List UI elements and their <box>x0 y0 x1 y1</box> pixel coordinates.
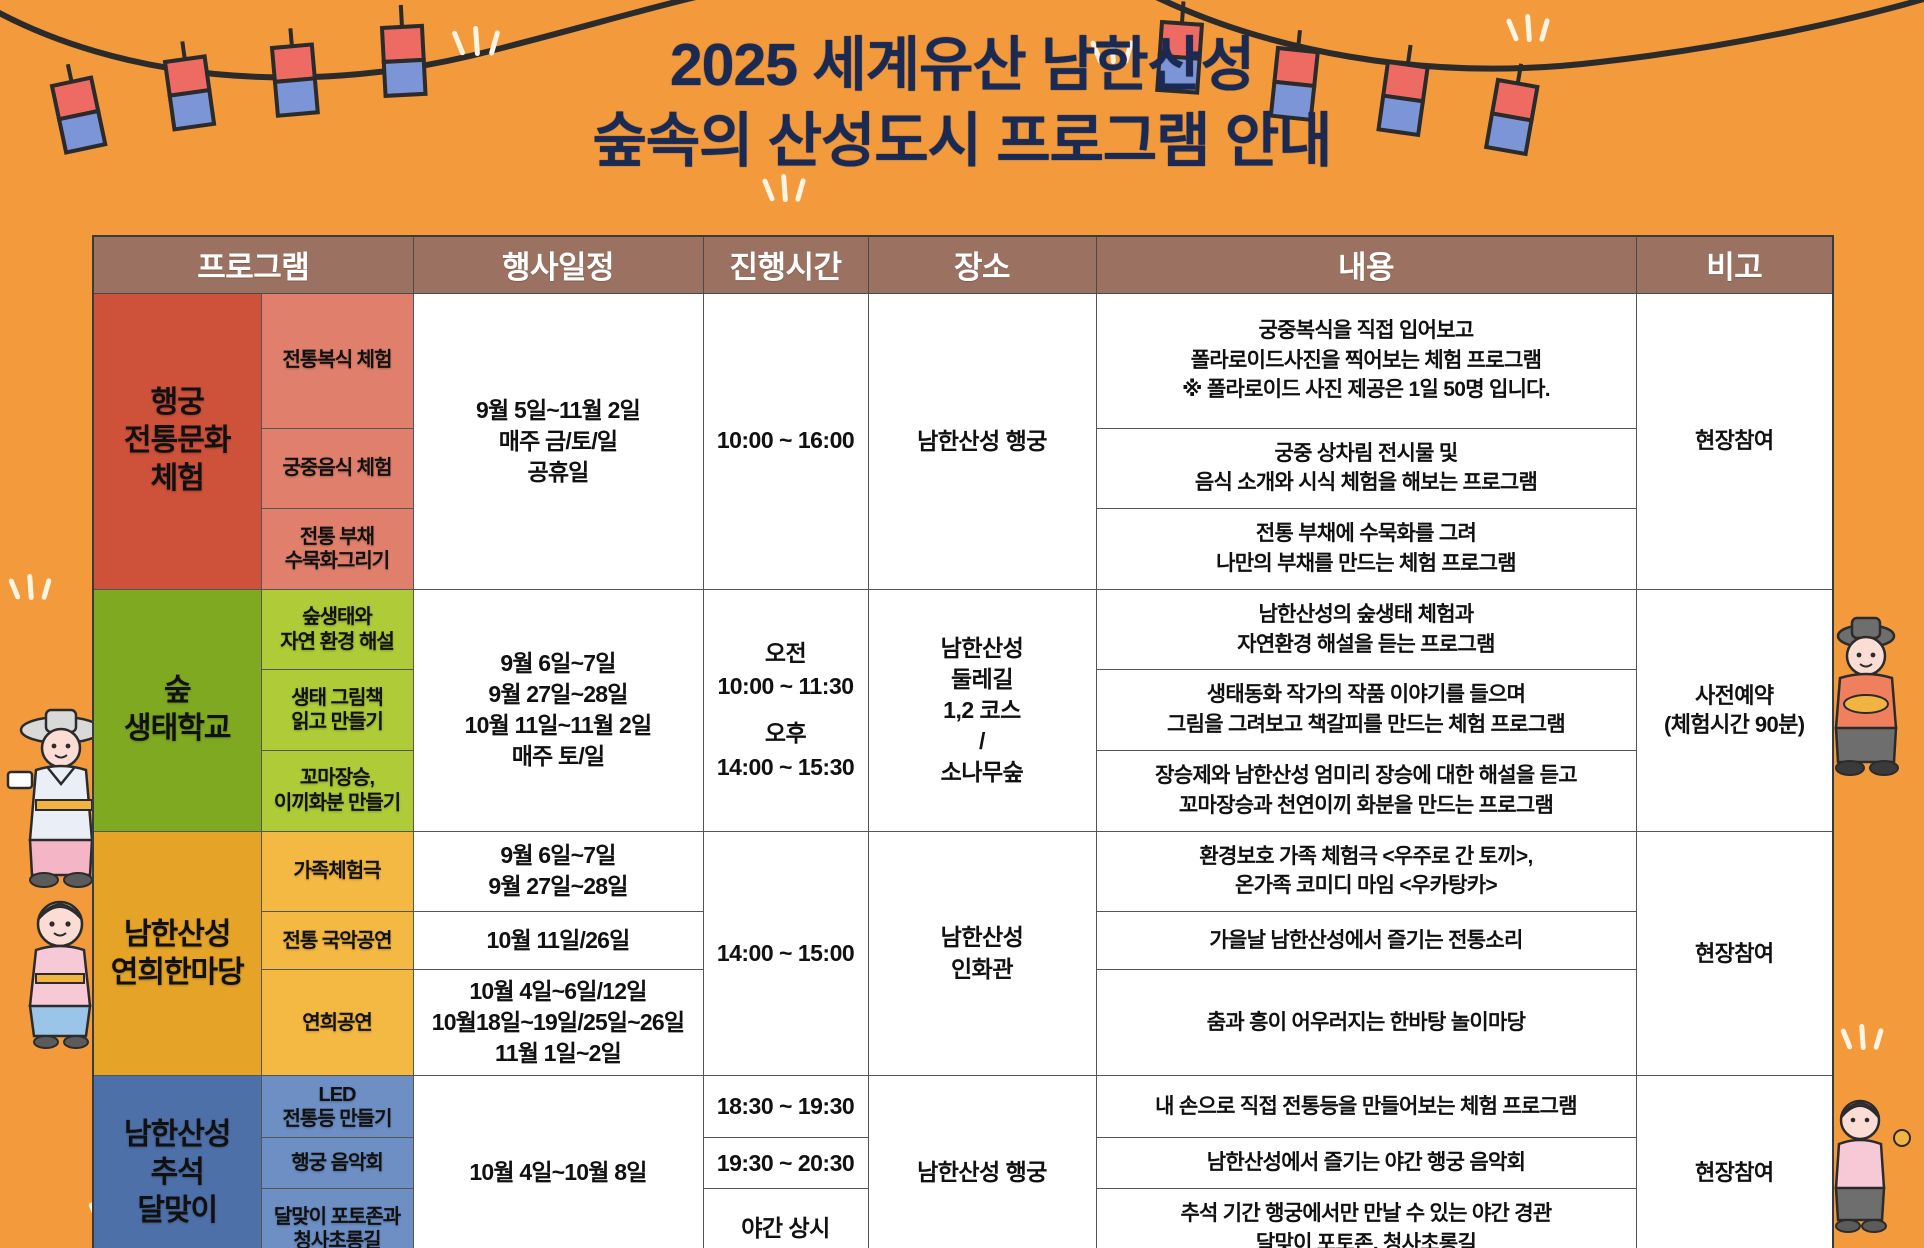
content-line-2: 꼬마장승과 천연이끼 화분을 만드는 프로그램 <box>1107 791 1626 821</box>
sub-line-1: 꼬마장승, <box>264 766 411 790</box>
sub-program-name: LED 전통등 만들기 <box>261 1076 413 1138</box>
remark-line-2: (체험시간 90분) <box>1641 710 1829 740</box>
program-schedule-table-wrap: 프로그램 행사일정 진행시간 장소 내용 비고 행궁 전통문화 체험 전통복식 … <box>92 235 1832 1248</box>
schedule-cell: 9월 6일~7일 9월 27일~28일 10월 11일~11월 2일 매주 토/… <box>413 589 703 831</box>
content-line-1: 전통 부채에 수묵화를 그려 <box>1107 519 1626 549</box>
sub-program-name: 연희공연 <box>261 970 413 1076</box>
group-name-hanggung: 행궁 전통문화 체험 <box>93 293 261 589</box>
sub-program-name: 꼬마장승, 이끼화분 만들기 <box>261 751 413 832</box>
content-cell: 가을날 남한산성에서 즐기는 전통소리 <box>1096 912 1636 970</box>
schedule-cell: 9월 6일~7일 9월 27일~28일 <box>413 831 703 912</box>
sub-program-name: 전통 국악공연 <box>261 912 413 970</box>
content-cell: 궁중 상차림 전시물 및 음식 소개와 시식 체험을 해보는 프로그램 <box>1096 428 1636 509</box>
sub-line-2: 자연 환경 해설 <box>264 630 411 654</box>
time-line-1: 오전 <box>706 637 866 670</box>
schedule-line-2: 10월18일~19일/25일~26일 <box>418 1007 699 1038</box>
content-cell: 남한산성에서 즐기는 야간 행궁 음악회 <box>1096 1138 1636 1189</box>
sub-program-name: 달맞이 포토존과 청사초롱길 <box>261 1189 413 1248</box>
group-line-2: 추석 <box>94 1154 261 1192</box>
header-remark: 비고 <box>1636 236 1833 293</box>
schedule-line-3: 공휴일 <box>418 457 699 488</box>
sparkle-decoration <box>8 572 68 612</box>
content-line-3: ※ 폴라로이드 사진 제공은 1일 50명 입니다. <box>1107 375 1626 405</box>
content-line-1: 장승제와 남한산성 엄미리 장승에 대한 해설을 듣고 <box>1107 761 1626 791</box>
table-row: 행궁 전통문화 체험 전통복식 체험 9월 5일~11월 2일 매주 금/토/일… <box>93 293 1833 428</box>
sub-line-1: 전통 부채 <box>264 525 411 549</box>
time-line-2: 10:00 ~ 11:30 <box>706 670 866 703</box>
place-line-1: 남한산성 <box>873 922 1092 953</box>
time-cell: 19:30 ~ 20:30 <box>703 1138 868 1189</box>
place-cell: 남한산성 인화관 <box>868 831 1096 1076</box>
content-line-2: 음식 소개와 시식 체험을 해보는 프로그램 <box>1107 468 1626 498</box>
place-cell: 남한산성 행궁 <box>868 1076 1096 1248</box>
place-line-2: 인화관 <box>873 954 1092 985</box>
sub-line-2: 청사초롱길 <box>264 1229 411 1248</box>
remark-cell: 사전예약 (체험시간 90분) <box>1636 589 1833 831</box>
schedule-line-1: 9월 5일~11월 2일 <box>418 395 699 426</box>
sub-line-2: 전통등 만들기 <box>264 1107 411 1131</box>
remark-cell: 현장참여 <box>1636 831 1833 1076</box>
sub-program-name: 숲생태와 자연 환경 해설 <box>261 589 413 670</box>
schedule-cell: 10월 4일~6일/12일 10월18일~19일/25일~26일 11월 1일~… <box>413 970 703 1076</box>
group-name-forest-school: 숲 생태학교 <box>93 589 261 831</box>
sub-program-name: 행궁 음악회 <box>261 1138 413 1189</box>
sub-program-name: 전통복식 체험 <box>261 293 413 428</box>
place-cell: 남한산성 둘레길 1,2 코스 / 소나무숲 <box>868 589 1096 831</box>
group-name-yeonhui: 남한산성 연희한마당 <box>93 831 261 1076</box>
header-program: 프로그램 <box>93 236 413 293</box>
remark-line-1: 사전예약 <box>1641 681 1829 711</box>
table-row: 남한산성 추석 달맞이 LED 전통등 만들기 10월 4일~10월 8일 18… <box>93 1076 1833 1138</box>
schedule-line-1: 9월 6일~7일 <box>418 648 699 679</box>
schedule-cell: 10월 11일/26일 <box>413 912 703 970</box>
place-line-2: 둘레길 <box>873 664 1092 695</box>
content-cell: 춤과 흥이 어우러지는 한바탕 놀이마당 <box>1096 970 1636 1076</box>
sub-program-name: 생태 그림책 읽고 만들기 <box>261 670 413 751</box>
content-line-2: 자연환경 해설을 듣는 프로그램 <box>1107 630 1626 660</box>
schedule-line-4: 매주 토/일 <box>418 741 699 772</box>
content-cell: 추석 기간 행궁에서만 만날 수 있는 야간 경관 달맞이 포토존, 청사초롱길 <box>1096 1189 1636 1248</box>
group-line-3: 달맞이 <box>94 1192 261 1230</box>
poster-title: 2025 세계유산 남한산성 숲속의 산성도시 프로그램 안내 <box>0 28 1924 179</box>
sub-line-1: 달맞이 포토존과 <box>264 1205 411 1229</box>
table-header-row: 프로그램 행사일정 진행시간 장소 내용 비고 <box>93 236 1833 293</box>
remark-cell: 현장참여 <box>1636 293 1833 589</box>
time-spacer <box>706 703 866 717</box>
sub-program-name: 가족체험극 <box>261 831 413 912</box>
title-line-2: 숲속의 산성도시 프로그램 안내 <box>0 104 1924 180</box>
time-line-3: 오후 <box>706 717 866 750</box>
header-content: 내용 <box>1096 236 1636 293</box>
header-place: 장소 <box>868 236 1096 293</box>
content-cell: 전통 부채에 수묵화를 그려 나만의 부채를 만드는 체험 프로그램 <box>1096 509 1636 590</box>
content-cell: 남한산성의 숲생태 체험과 자연환경 해설을 듣는 프로그램 <box>1096 589 1636 670</box>
group-line-2: 생태학교 <box>94 710 261 748</box>
time-cell: 10:00 ~ 16:00 <box>703 293 868 589</box>
header-schedule: 행사일정 <box>413 236 703 293</box>
time-cell: 오전 10:00 ~ 11:30 오후 14:00 ~ 15:30 <box>703 589 868 831</box>
group-line-1: 숲 <box>94 672 261 710</box>
group-line-1: 행궁 <box>94 384 261 422</box>
schedule-cell: 9월 5일~11월 2일 매주 금/토/일 공휴일 <box>413 293 703 589</box>
program-schedule-table: 프로그램 행사일정 진행시간 장소 내용 비고 행궁 전통문화 체험 전통복식 … <box>92 235 1834 1248</box>
sub-line-2: 수묵화그리기 <box>264 549 411 573</box>
title-line-1: 2025 세계유산 남한산성 <box>0 28 1924 104</box>
content-line-2: 달맞이 포토존, 청사초롱길 <box>1107 1229 1626 1248</box>
content-cell: 장승제와 남한산성 엄미리 장승에 대한 해설을 듣고 꼬마장승과 천연이끼 화… <box>1096 751 1636 832</box>
header-time: 진행시간 <box>703 236 868 293</box>
schedule-line-3: 10월 11일~11월 2일 <box>418 710 699 741</box>
schedule-line-2: 9월 27일~28일 <box>418 871 699 902</box>
content-line-2: 온가족 코미디 마임 <우카탕카> <box>1107 871 1626 901</box>
time-line-4: 14:00 ~ 15:30 <box>706 751 866 784</box>
group-line-1: 남한산성 <box>94 1116 261 1154</box>
place-line-5: 소나무숲 <box>873 757 1092 788</box>
schedule-line-1: 10월 4일~6일/12일 <box>418 976 699 1007</box>
sub-line-2: 이끼화분 만들기 <box>264 791 411 815</box>
group-line-3: 체험 <box>94 460 261 498</box>
content-cell: 궁중복식을 직접 입어보고 폴라로이드사진을 찍어보는 체험 프로그램 ※ 폴라… <box>1096 293 1636 428</box>
content-cell: 환경보호 가족 체험극 <우주로 간 토끼>, 온가족 코미디 마임 <우카탕카… <box>1096 831 1636 912</box>
remark-cell: 현장참여 <box>1636 1076 1833 1248</box>
time-cell: 18:30 ~ 19:30 <box>703 1076 868 1138</box>
schedule-line-2: 매주 금/토/일 <box>418 426 699 457</box>
sub-line-1: 숲생태와 <box>264 605 411 629</box>
time-cell: 14:00 ~ 15:00 <box>703 831 868 1076</box>
content-line-1: 환경보호 가족 체험극 <우주로 간 토끼>, <box>1107 842 1626 872</box>
content-line-1: 추석 기간 행궁에서만 만날 수 있는 야간 경관 <box>1107 1199 1626 1229</box>
sub-program-name: 궁중음식 체험 <box>261 428 413 509</box>
content-line-2: 그림을 그려보고 책갈피를 만드는 체험 프로그램 <box>1107 710 1626 740</box>
table-row: 숲 생태학교 숲생태와 자연 환경 해설 9월 6일~7일 9월 27일~28일… <box>93 589 1833 670</box>
content-line-2: 폴라로이드사진을 찍어보는 체험 프로그램 <box>1107 346 1626 376</box>
content-cell: 내 손으로 직접 전통등을 만들어보는 체험 프로그램 <box>1096 1076 1636 1138</box>
content-line-1: 궁중복식을 직접 입어보고 <box>1107 316 1626 346</box>
content-line-1: 남한산성의 숲생태 체험과 <box>1107 600 1626 630</box>
content-cell: 생태동화 작가의 작품 이야기를 들으며 그림을 그려보고 책갈피를 만드는 체… <box>1096 670 1636 751</box>
table-row: 남한산성 연희한마당 가족체험극 9월 6일~7일 9월 27일~28일 14:… <box>93 831 1833 912</box>
sub-line-2: 읽고 만들기 <box>264 710 411 734</box>
group-line-2: 전통문화 <box>94 422 261 460</box>
schedule-line-2: 9월 27일~28일 <box>418 679 699 710</box>
sub-line-1: 생태 그림책 <box>264 686 411 710</box>
sub-program-name: 전통 부채 수묵화그리기 <box>261 509 413 590</box>
sub-line-1: LED <box>264 1083 411 1107</box>
place-line-1: 남한산성 <box>873 633 1092 664</box>
group-line-1: 남한산성 <box>94 916 261 954</box>
place-line-4: / <box>873 726 1092 757</box>
schedule-line-1: 9월 6일~7일 <box>418 840 699 871</box>
group-line-2: 연희한마당 <box>94 954 261 992</box>
content-line-2: 나만의 부채를 만드는 체험 프로그램 <box>1107 549 1626 579</box>
time-cell: 야간 상시 <box>703 1189 868 1248</box>
schedule-cell: 10월 4일~10월 8일 <box>413 1076 703 1248</box>
schedule-line-3: 11월 1일~2일 <box>418 1038 699 1069</box>
sparkle-decoration <box>1840 1022 1900 1062</box>
group-name-chuseok: 남한산성 추석 달맞이 <box>93 1076 261 1248</box>
place-cell: 남한산성 행궁 <box>868 293 1096 589</box>
place-line-3: 1,2 코스 <box>873 695 1092 726</box>
content-line-1: 생태동화 작가의 작품 이야기를 들으며 <box>1107 680 1626 710</box>
content-line-1: 궁중 상차림 전시물 및 <box>1107 439 1626 469</box>
